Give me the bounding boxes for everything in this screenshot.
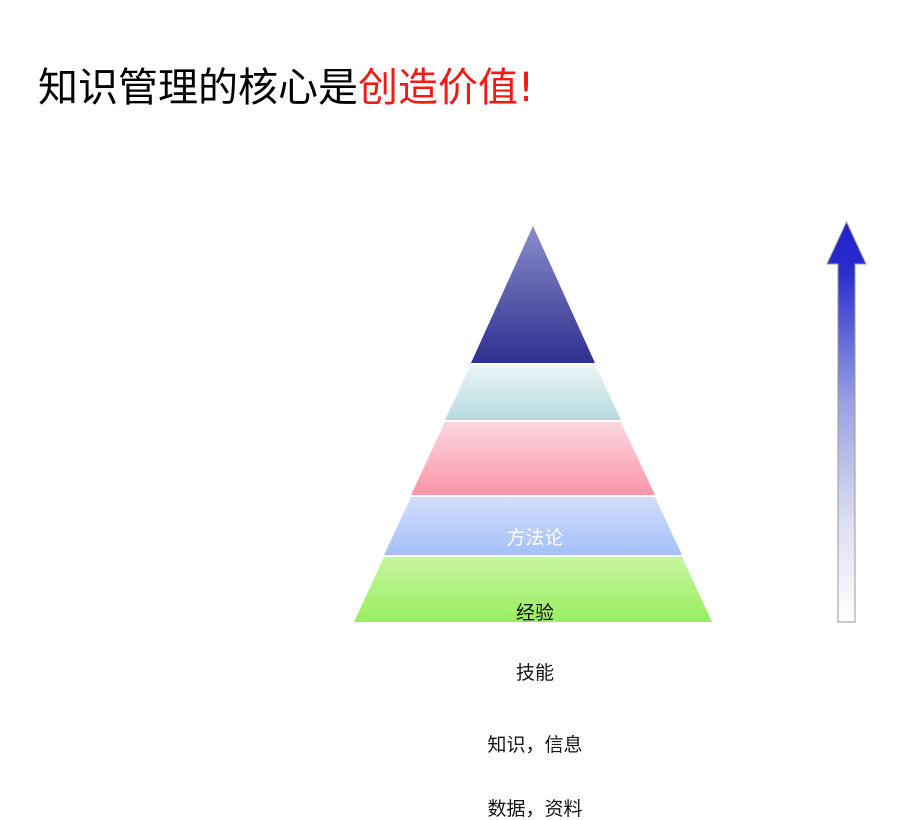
pyramid-tier-5-label: 数据，资料 — [250, 800, 820, 819]
knowledge-pyramid[interactable]: 方法论 经验 技能 知识，信息 数据，资料 — [250, 215, 820, 635]
pyramid-tier-4-shape[interactable] — [384, 497, 682, 555]
pyramid-tier-5-shape[interactable] — [354, 557, 712, 622]
page-title-accent: 创造价值! — [358, 65, 534, 111]
pyramid-tier-3-shape[interactable] — [411, 422, 655, 495]
page-title: 知识管理的核心是创造价值! — [38, 58, 858, 120]
pyramid-tier-1-shape[interactable] — [471, 226, 595, 363]
page-title-primary: 知识管理的核心是 — [38, 65, 358, 111]
pyramid-tier-3-label: 技能 — [250, 664, 820, 683]
up-arrow-icon[interactable] — [818, 218, 876, 628]
pyramid-tier-2-shape[interactable] — [445, 365, 621, 420]
up-arrow-shape — [827, 222, 866, 622]
pyramid-tier-4-label: 知识，信息 — [250, 736, 820, 755]
slide-canvas: 知识管理的核心是创造价值! — [0, 0, 900, 675]
